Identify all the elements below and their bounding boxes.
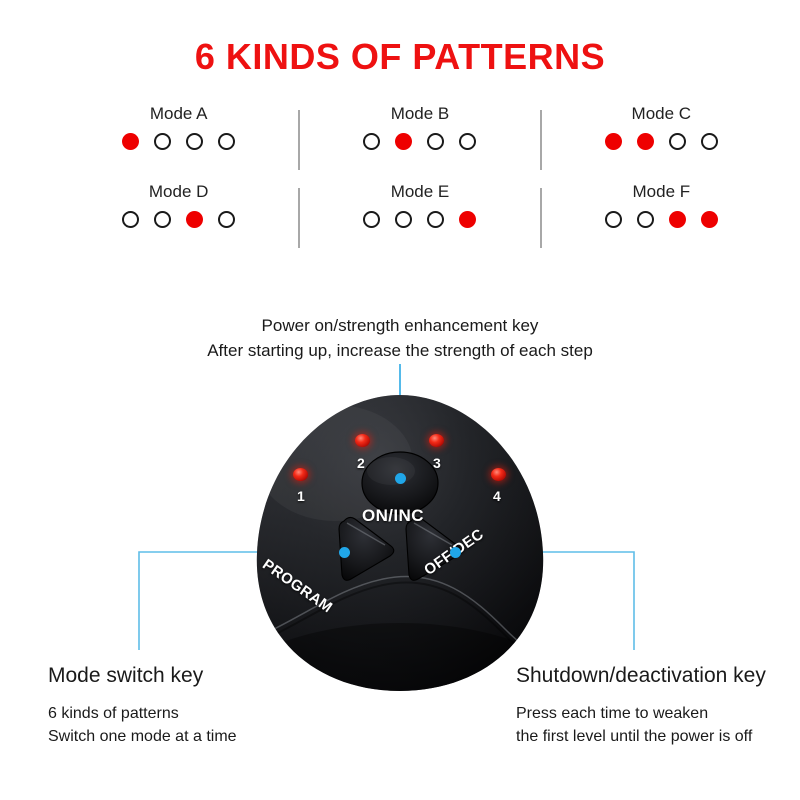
mode-dot-row [363,211,476,228]
mode-label: Mode C [632,104,692,124]
mode-dot-row [605,211,718,228]
anchor-dot-power [395,473,406,484]
mode-dot [363,133,380,150]
mode-dot [218,133,235,150]
mode-label: Mode B [391,104,450,124]
mode-label: Mode F [633,182,691,202]
mode-dot [186,133,203,150]
anchor-dot-program [339,547,350,558]
led-number-1: 1 [297,488,305,504]
column-divider [540,188,542,248]
mode-dot [154,211,171,228]
shutdown-line1: Press each time to weaken [516,702,800,725]
mode-cell-c: Mode C [541,104,782,182]
mode-dot [637,133,654,150]
mode-dot [154,133,171,150]
mode-dot [605,211,622,228]
mode-cell-a: Mode A [58,104,299,182]
power-key-callout: Power on/strength enhancement key After … [0,313,800,363]
mode-dot-row [122,211,235,228]
ems-device: 1 2 3 4 ON/INC PROGRAM OFF/DEC [243,393,557,693]
mode-label: Mode D [149,182,209,202]
mode-dot [637,211,654,228]
mode-dot [605,133,622,150]
mode-switch-line1: 6 kinds of patterns [48,702,348,725]
led-number-2: 2 [357,455,365,471]
led-indicator-3 [429,434,444,447]
column-divider [540,110,542,170]
device-body [243,393,557,693]
anchor-dot-offdec [450,547,461,558]
power-key-callout-line2: After starting up, increase the strength… [0,338,800,363]
mode-dot-row [363,133,476,150]
column-divider [298,188,300,248]
mode-cell-d: Mode D [58,182,299,260]
led-indicator-2 [355,434,370,447]
mode-dot [427,211,444,228]
mode-dot [669,133,686,150]
mode-dot [122,133,139,150]
mode-dot [669,211,686,228]
mode-dot [427,133,444,150]
mode-dot [186,211,203,228]
mode-dot [395,133,412,150]
mode-dot [122,211,139,228]
led-indicator-1 [293,468,308,481]
led-indicator-4 [491,468,506,481]
mode-switch-line2: Switch one mode at a time [48,725,348,748]
shutdown-heading: Shutdown/deactivation key [516,662,800,690]
on-inc-button-gloss [367,457,415,485]
mode-dot-row [122,133,235,150]
mode-switch-heading: Mode switch key [48,662,348,690]
mode-dot [701,211,718,228]
led-number-4: 4 [493,488,501,504]
mode-dot [701,133,718,150]
on-inc-label: ON/INC [362,506,424,526]
led-number-3: 3 [433,455,441,471]
mode-dot [218,211,235,228]
shutdown-line2: the first level until the power is off [516,725,800,748]
mode-label: Mode A [150,104,208,124]
mode-cell-f: Mode F [541,182,782,260]
shutdown-annotation: Shutdown/deactivation key Press each tim… [516,662,800,748]
column-divider [298,110,300,170]
mode-cell-b: Mode B [299,104,540,182]
page-title: 6 KINDS OF PATTERNS [0,36,800,78]
mode-cell-e: Mode E [299,182,540,260]
mode-dot [363,211,380,228]
mode-dot [459,211,476,228]
mode-dot [459,133,476,150]
power-key-callout-line1: Power on/strength enhancement key [0,313,800,338]
mode-label: Mode E [391,182,450,202]
mode-switch-annotation: Mode switch key 6 kinds of patterns Swit… [48,662,348,748]
mode-pattern-grid: Mode A Mode B Mode C Mode D [58,104,782,260]
mode-dot-row [605,133,718,150]
mode-dot [395,211,412,228]
